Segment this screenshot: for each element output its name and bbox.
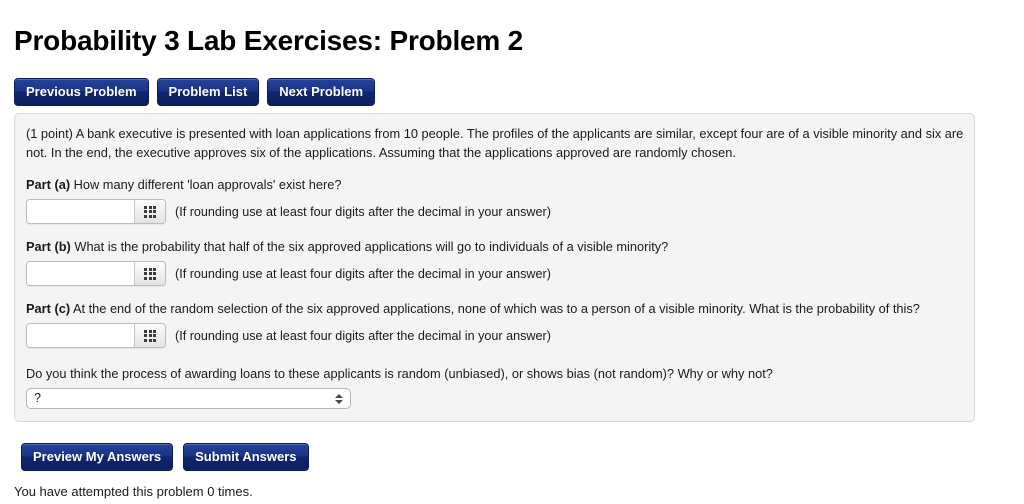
next-problem-button[interactable]: Next Problem bbox=[267, 78, 375, 106]
final-question-text: Do you think the process of awarding loa… bbox=[26, 365, 962, 383]
attempt-count-text: You have attempted this problem 0 times. bbox=[14, 483, 253, 500]
part-a-answer-row: (If rounding use at least four digits af… bbox=[26, 199, 962, 224]
part-a-input-combo bbox=[26, 199, 166, 224]
grid-keypad-icon bbox=[144, 268, 156, 280]
part-a-question-text: How many different 'loan approvals' exis… bbox=[74, 177, 342, 192]
part-b-question: Part (b) What is the probability that ha… bbox=[26, 238, 962, 256]
part-b-input-combo bbox=[26, 261, 166, 286]
part-a-hint: (If rounding use at least four digits af… bbox=[175, 203, 551, 221]
part-c-input-combo bbox=[26, 323, 166, 348]
answer-actions: Preview My Answers Submit Answers bbox=[21, 443, 309, 471]
submit-answers-button[interactable]: Submit Answers bbox=[183, 443, 308, 471]
part-b-label: Part (b) bbox=[26, 239, 71, 254]
part-c-label: Part (c) bbox=[26, 301, 70, 316]
part-b-keypad-button[interactable] bbox=[134, 262, 165, 285]
part-c-question-text: At the end of the random selection of th… bbox=[73, 301, 920, 316]
part-c-keypad-button[interactable] bbox=[134, 324, 165, 347]
problem-navigation: Previous Problem Problem List Next Probl… bbox=[14, 78, 375, 106]
problem-panel: (1 point) A bank executive is presented … bbox=[14, 113, 975, 422]
previous-problem-button[interactable]: Previous Problem bbox=[14, 78, 149, 106]
part-b-question-text: What is the probability that half of the… bbox=[74, 239, 668, 254]
part-a-question: Part (a) How many different 'loan approv… bbox=[26, 176, 962, 194]
part-c-block: Part (c) At the end of the random select… bbox=[26, 300, 962, 348]
part-c-answer-row: (If rounding use at least four digits af… bbox=[26, 323, 962, 348]
problem-page: Probability 3 Lab Exercises: Problem 2 P… bbox=[0, 0, 1024, 504]
grid-keypad-icon bbox=[144, 330, 156, 342]
problem-statement: (1 point) A bank executive is presented … bbox=[26, 124, 964, 162]
part-c-hint: (If rounding use at least four digits af… bbox=[175, 327, 551, 345]
part-b-hint: (If rounding use at least four digits af… bbox=[175, 265, 551, 283]
final-answer-select-wrap: ? bbox=[26, 388, 351, 409]
part-a-keypad-button[interactable] bbox=[134, 200, 165, 223]
final-answer-select[interactable]: ? bbox=[26, 388, 351, 409]
part-a-label: Part (a) bbox=[26, 177, 70, 192]
part-c-question: Part (c) At the end of the random select… bbox=[26, 300, 962, 318]
grid-keypad-icon bbox=[144, 206, 156, 218]
part-a-block: Part (a) How many different 'loan approv… bbox=[26, 176, 962, 224]
page-title: Probability 3 Lab Exercises: Problem 2 bbox=[14, 24, 523, 58]
part-b-block: Part (b) What is the probability that ha… bbox=[26, 238, 962, 286]
preview-my-answers-button[interactable]: Preview My Answers bbox=[21, 443, 173, 471]
part-c-answer-input[interactable] bbox=[27, 324, 134, 347]
part-a-answer-input[interactable] bbox=[27, 200, 134, 223]
part-b-answer-row: (If rounding use at least four digits af… bbox=[26, 261, 962, 286]
problem-list-button[interactable]: Problem List bbox=[157, 78, 260, 106]
part-b-answer-input[interactable] bbox=[27, 262, 134, 285]
